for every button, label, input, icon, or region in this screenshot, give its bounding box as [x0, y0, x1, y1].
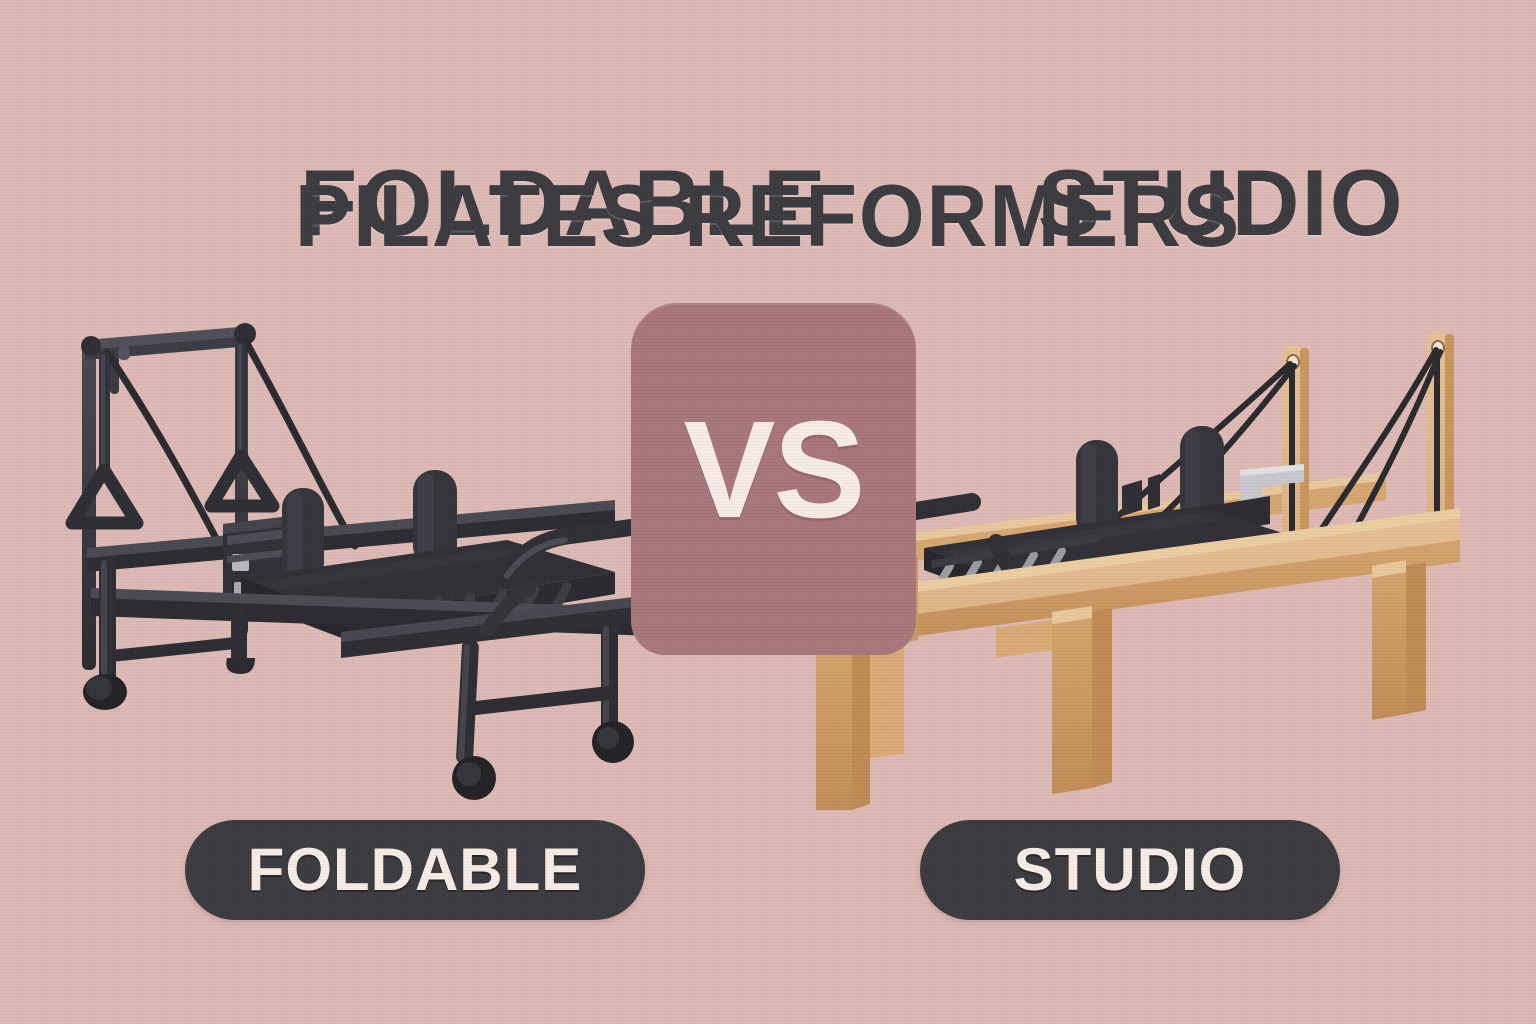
triangle-handle-left: [72, 470, 137, 523]
headline-word-studio: STUDIO: [1038, 150, 1405, 255]
studio-pill-label: STUDIO: [1014, 840, 1247, 900]
caster-wheel-front: [452, 756, 496, 800]
versus-badge: VS: [631, 303, 916, 655]
wood-leg-front-left: [816, 628, 904, 810]
wood-leg-back-right: [1372, 560, 1426, 720]
lower-cross-brace: [467, 686, 609, 716]
end-leg-rear: [83, 558, 245, 710]
caster-wheel-rear: [592, 721, 634, 763]
versus-label: VS: [631, 401, 916, 539]
headline-line-2: PILATES REFORMERS: [31, 172, 1506, 260]
front-leg-right: [601, 622, 618, 732]
foldable-reformer-illustration: [55, 310, 715, 810]
hanging-strap-right: [236, 342, 247, 458]
foldable-label-pill[interactable]: FOLDABLE: [185, 820, 645, 920]
poster-canvas: FOLDABLESTUDIO PILATES REFORMERS: [0, 0, 1536, 1024]
wood-leg-front-right: [996, 606, 1112, 794]
headline-line-1: FOLDABLESTUDIO: [0, 62, 1536, 344]
studio-label-pill[interactable]: STUDIO: [920, 820, 1340, 920]
foldable-pill-label: FOLDABLE: [248, 840, 583, 900]
hanging-strap-left: [99, 352, 110, 472]
headline-word-foldable: FOLDABLE: [300, 150, 828, 255]
